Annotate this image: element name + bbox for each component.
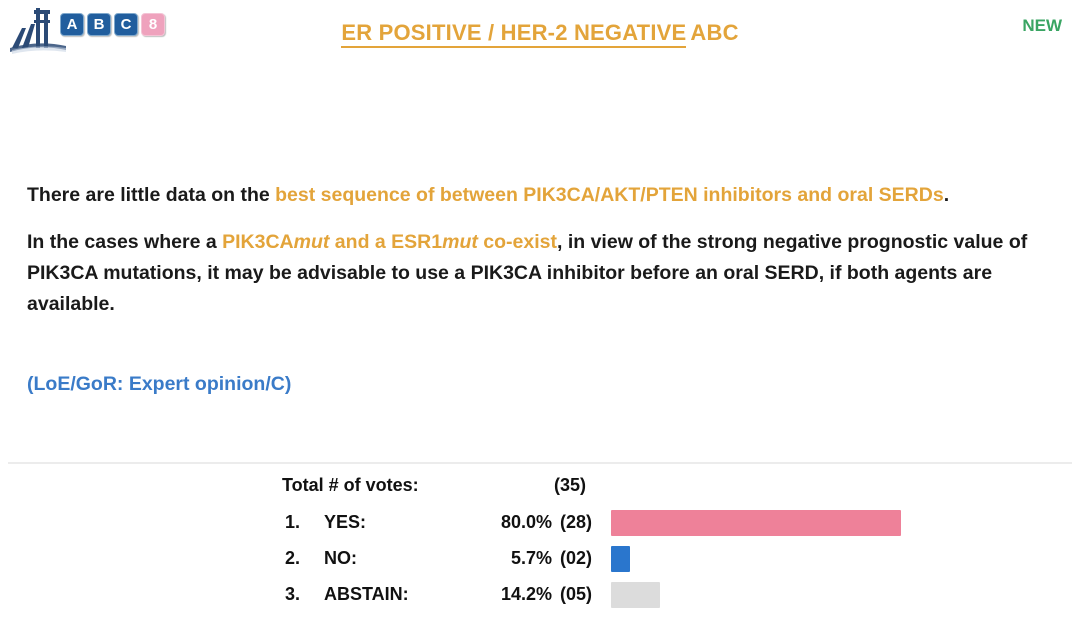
vote-bar-abstain — [611, 582, 660, 608]
vote-rank-3: 3. — [285, 584, 300, 605]
loe-gor-label: (LoE/GoR: Expert opinion/C) — [27, 373, 291, 396]
vote-count-no: (02) — [560, 548, 592, 569]
new-badge: NEW — [1022, 16, 1062, 36]
para1-plain-start: There are little data on the — [27, 184, 275, 206]
vote-option-no: NO: — [324, 548, 357, 569]
vote-rank-2: 2. — [285, 548, 300, 569]
section-divider — [8, 462, 1072, 464]
vote-total-count: (35) — [554, 475, 586, 496]
para2-gene-pik3ca: PIK3CA — [222, 231, 294, 253]
vote-bar-yes — [611, 510, 901, 536]
page-title-main: ER POSITIVE / HER-2 NEGATIVE — [341, 20, 686, 48]
paragraph-one: There are little data on the best sequen… — [27, 180, 1057, 211]
page-title-suffix: ABC — [686, 20, 738, 45]
vote-total-row: Total # of votes: (35) — [282, 472, 982, 508]
vote-option-yes: YES: — [324, 512, 366, 533]
vote-rank-1: 1. — [285, 512, 300, 533]
para2-gene-esr1: ESR1 — [391, 231, 442, 253]
vote-bar-no — [611, 546, 630, 572]
recommendation-text: There are little data on the best sequen… — [27, 180, 1057, 320]
para2-conjunction: and a — [329, 231, 391, 253]
para2-plain-start: In the cases where a — [27, 231, 222, 253]
slide-header: A B C 8 ER POSITIVE / HER-2 NEGATIVEABC … — [0, 0, 1080, 68]
vote-row-no: 2. NO: 5.7% (02) — [282, 544, 982, 580]
vote-row-abstain: 3. ABSTAIN: 14.2% (05) — [282, 580, 982, 616]
voting-results: Total # of votes: (35) 1. YES: 80.0% (28… — [282, 472, 982, 616]
vote-pct-abstain: 14.2% — [472, 584, 552, 605]
page-title: ER POSITIVE / HER-2 NEGATIVEABC — [0, 20, 1080, 46]
vote-pct-no: 5.7% — [472, 548, 552, 569]
vote-count-abstain: (05) — [560, 584, 592, 605]
para2-coexist: co-exist — [478, 231, 557, 253]
paragraph-two: In the cases where a PIK3CAmut and a ESR… — [27, 227, 1057, 320]
para1-highlight: best sequence of between PIK3CA/AKT/PTEN… — [275, 184, 944, 206]
para2-mut-pik3ca: mut — [294, 231, 330, 253]
vote-option-abstain: ABSTAIN: — [324, 584, 409, 605]
vote-pct-yes: 80.0% — [472, 512, 552, 533]
vote-row-yes: 1. YES: 80.0% (28) — [282, 508, 982, 544]
para1-plain-end: . — [944, 184, 949, 206]
vote-total-label: Total # of votes: — [282, 475, 419, 496]
vote-count-yes: (28) — [560, 512, 592, 533]
para2-mut-esr1: mut — [442, 231, 478, 253]
